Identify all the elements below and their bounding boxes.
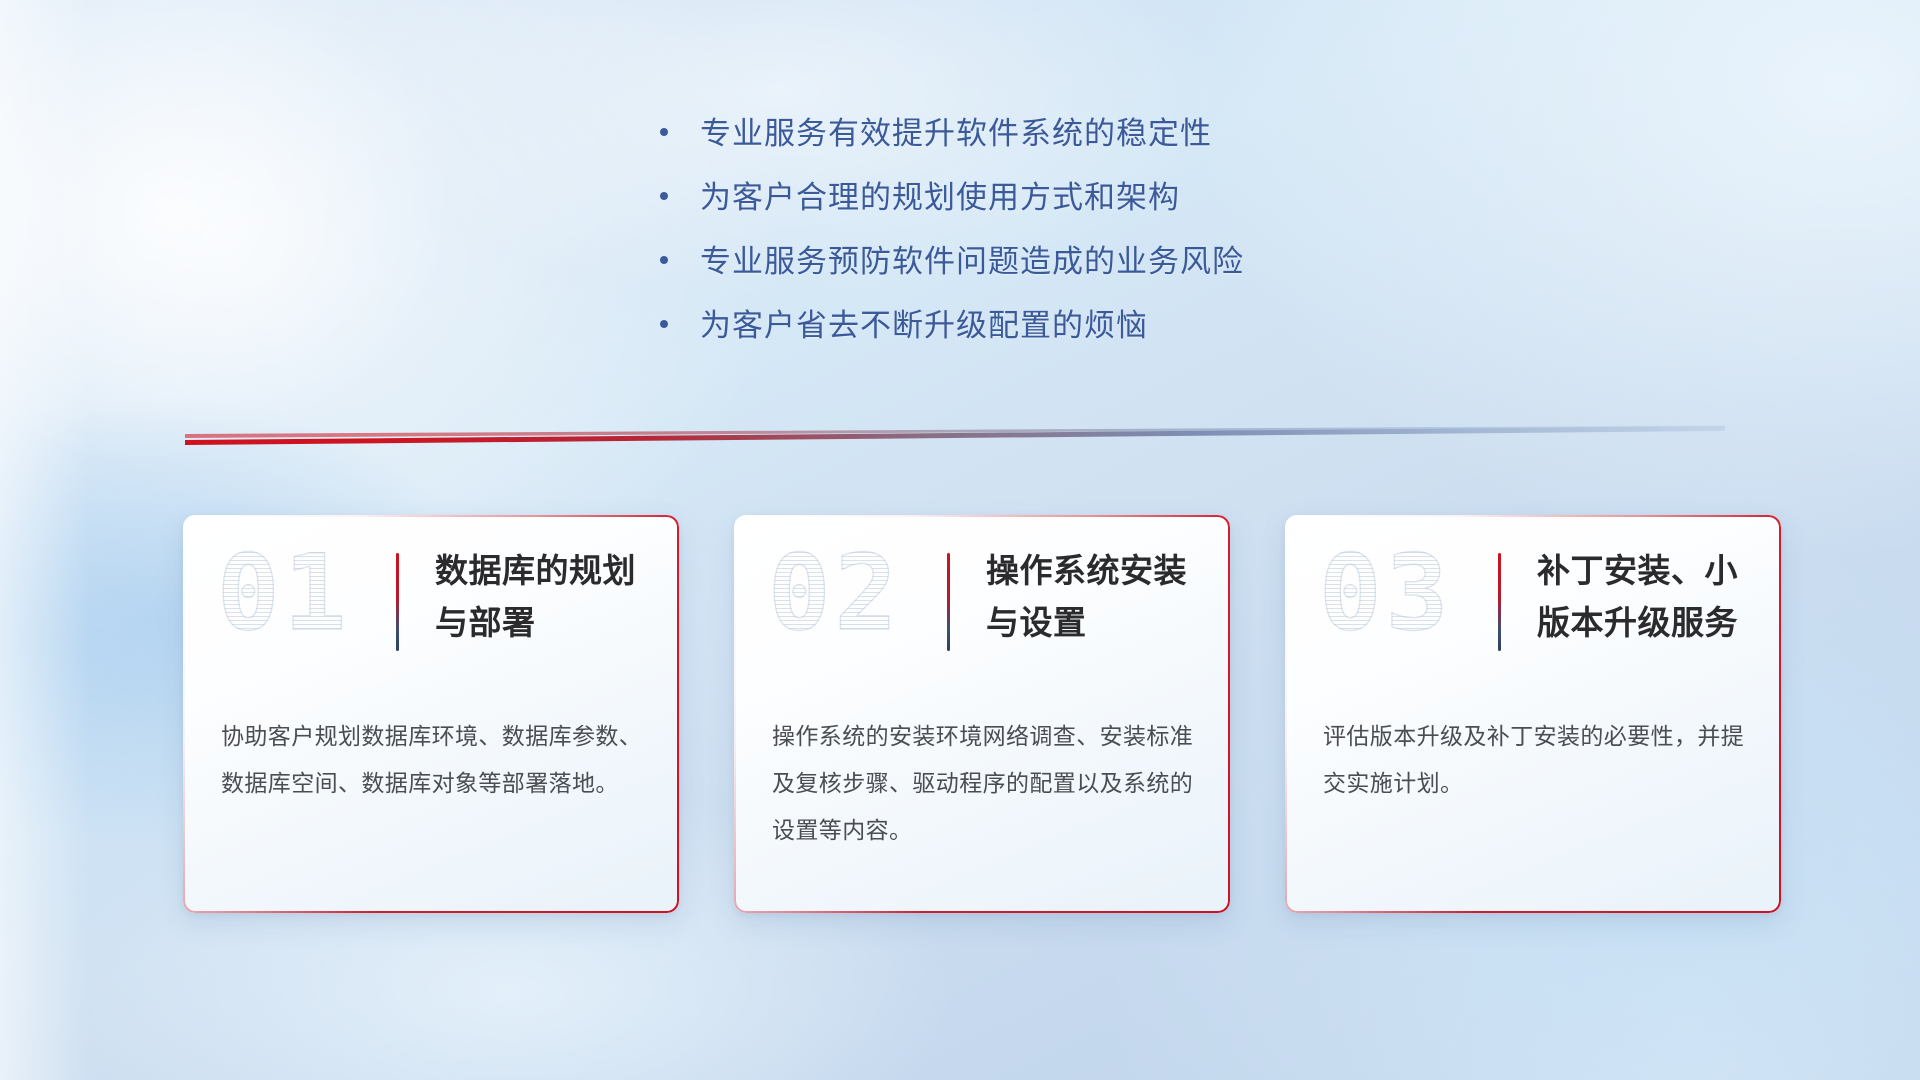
divider-wedge-icon: [185, 424, 1725, 446]
slide-canvas: 专业服务有效提升软件系统的稳定性 为客户合理的规划使用方式和架构 专业服务预防软…: [0, 0, 1920, 1080]
list-item-label: 为客户省去不断升级配置的烦恼: [700, 304, 1148, 348]
card-title-rule: [1498, 553, 1501, 651]
service-card-03[interactable]: 03 补丁安装、小版本升级服务 评估版本升级及补丁安装的必要性，并提交实施计划。: [1285, 515, 1781, 913]
bullet-dot-icon: [660, 128, 668, 136]
card-number-watermark: 01: [217, 541, 350, 645]
card-title-rule: [396, 553, 399, 651]
card-header: 03 补丁安装、小版本升级服务: [1285, 515, 1781, 691]
service-cards-row: 01 数据库的规划与部署 协助客户规划数据库环境、数据库参数、数据库空间、数据库…: [183, 515, 1783, 913]
card-description: 操作系统的安装环境网络调查、安装标准及复核步骤、驱动程序的配置以及系统的设置等内…: [772, 713, 1196, 854]
card-title-rule: [947, 553, 950, 651]
card-title: 操作系统安装与设置: [986, 545, 1212, 649]
list-item-label: 专业服务有效提升软件系统的稳定性: [700, 112, 1212, 156]
section-divider: [185, 424, 1725, 446]
list-item: 专业服务有效提升软件系统的稳定性: [660, 112, 1420, 156]
bullet-dot-icon: [660, 192, 668, 200]
benefits-bullet-list: 专业服务有效提升软件系统的稳定性 为客户合理的规划使用方式和架构 专业服务预防软…: [660, 112, 1420, 348]
card-title: 补丁安装、小版本升级服务: [1537, 545, 1763, 649]
list-item-label: 专业服务预防软件问题造成的业务风险: [700, 240, 1244, 284]
card-header: 02 操作系统安装与设置: [734, 515, 1230, 691]
list-item: 专业服务预防软件问题造成的业务风险: [660, 240, 1420, 284]
service-card-01[interactable]: 01 数据库的规划与部署 协助客户规划数据库环境、数据库参数、数据库空间、数据库…: [183, 515, 679, 913]
card-number-watermark: 03: [1319, 541, 1452, 645]
list-item-label: 为客户合理的规划使用方式和架构: [700, 176, 1180, 220]
list-item: 为客户省去不断升级配置的烦恼: [660, 304, 1420, 348]
background-light-streak: [0, 0, 90, 1080]
background-light-streak: [0, 0, 536, 547]
card-header: 01 数据库的规划与部署: [183, 515, 679, 691]
card-number-watermark: 02: [768, 541, 901, 645]
list-item: 为客户合理的规划使用方式和架构: [660, 176, 1420, 220]
card-description: 协助客户规划数据库环境、数据库参数、数据库空间、数据库对象等部署落地。: [221, 713, 645, 807]
card-title: 数据库的规划与部署: [435, 545, 661, 649]
card-description: 评估版本升级及补丁安装的必要性，并提交实施计划。: [1323, 713, 1747, 807]
bullet-dot-icon: [660, 320, 668, 328]
bullet-dot-icon: [660, 256, 668, 264]
service-card-02[interactable]: 02 操作系统安装与设置 操作系统的安装环境网络调查、安装标准及复核步骤、驱动程…: [734, 515, 1230, 913]
